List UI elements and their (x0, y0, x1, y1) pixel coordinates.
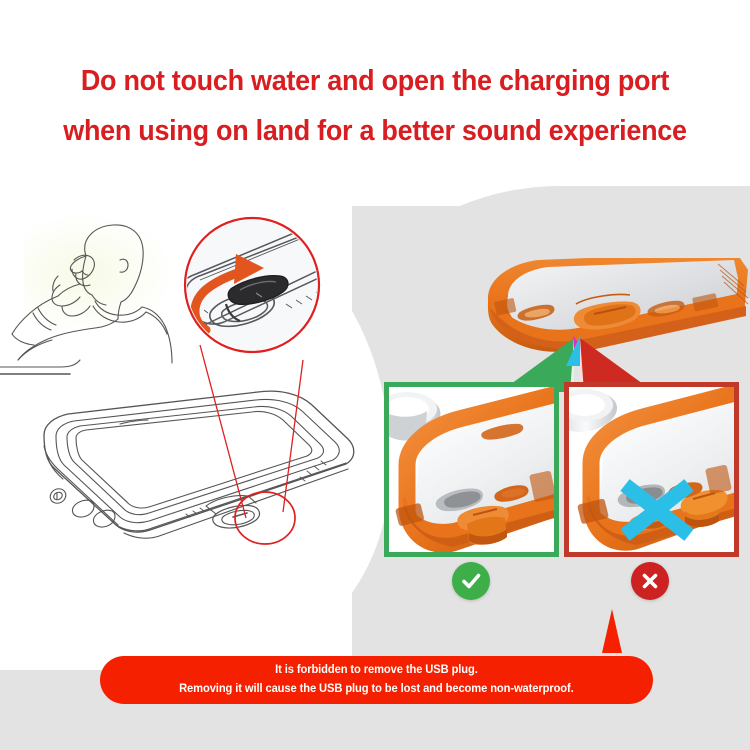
check-circle-badge (452, 562, 490, 600)
panel-plug-installed (384, 382, 559, 557)
magnified-charging-port-callout (176, 218, 340, 352)
magnifier-callout-cone (200, 345, 303, 518)
warning-banner: It is forbidden to remove the USB plug. … (100, 656, 653, 704)
photo-plug-installed (389, 387, 554, 552)
check-icon (459, 569, 483, 593)
phone-in-waterproof-case-outline (44, 391, 354, 538)
photo-plug-removed (569, 387, 734, 552)
close-icon (638, 569, 662, 593)
instruction-graphic: Do not touch water and open the charging… (0, 0, 750, 750)
line-art-illustration (0, 200, 380, 600)
panel-plug-removed (564, 382, 739, 557)
headline-line-2: when using on land for a better sound ex… (26, 106, 724, 156)
headline-line-1: Do not touch water and open the charging… (26, 56, 724, 106)
headline: Do not touch water and open the charging… (26, 56, 724, 156)
person-holding-phone-to-ear (0, 225, 172, 374)
charging-port-highlight-circle (235, 492, 295, 544)
x-circle-badge (631, 562, 669, 600)
warning-banner-line-2: Removing it will cause the USB plug to b… (179, 680, 574, 699)
warning-banner-line-1: It is forbidden to remove the USB plug. (275, 661, 478, 680)
banner-pointer-arrow (602, 609, 622, 653)
